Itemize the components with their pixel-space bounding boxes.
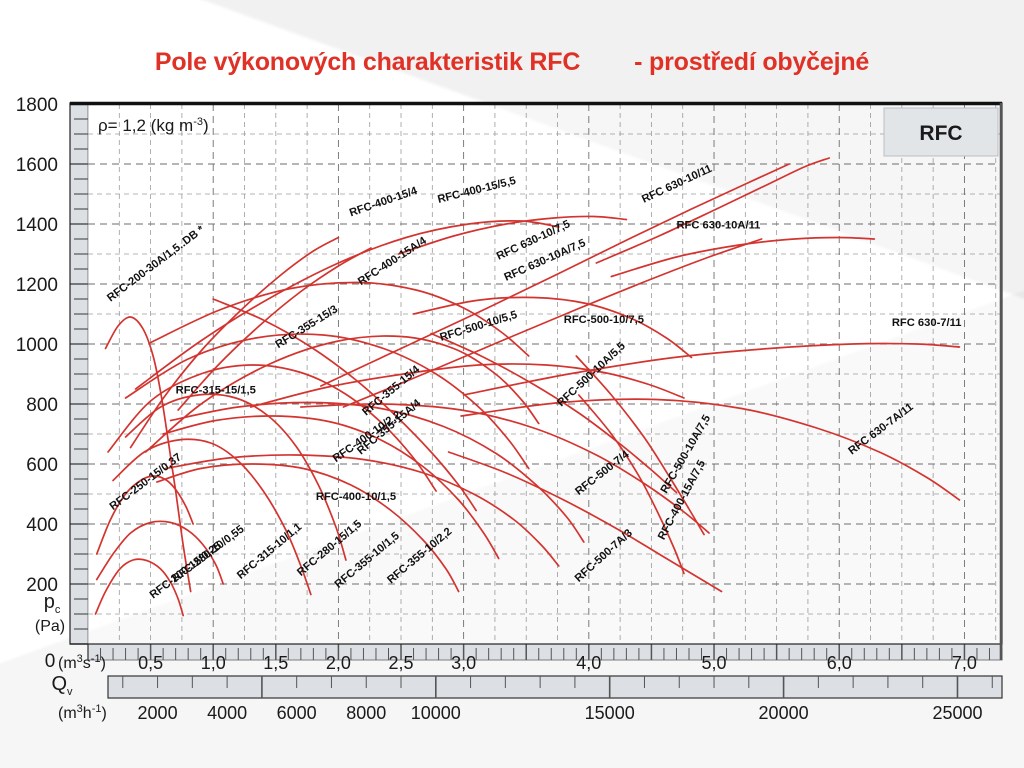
curve-label: RFC 630-10A/11 xyxy=(676,220,760,232)
qv-axis-name: Qv xyxy=(51,673,73,698)
curve-label: RFC 630-7/11 xyxy=(892,317,962,329)
curve-label: RFC-315-15/1,5 xyxy=(176,385,256,397)
y-axis-tick-label: 600 xyxy=(26,455,58,476)
y-axis-tick-label: 1000 xyxy=(16,335,58,356)
qv-axis-band xyxy=(108,676,1002,698)
x-axis-1-unit: (m3s-1) xyxy=(58,653,106,672)
y-axis-zero: 0 xyxy=(45,651,56,672)
y-axis-tick-label: 400 xyxy=(26,515,58,536)
x-axis-tick-label: 4,0 xyxy=(576,653,601,673)
x-axis-tick-label: 6,0 xyxy=(827,653,852,673)
x-axis-tick-label: 7,0 xyxy=(952,653,977,673)
qv-axis-tick-label: 25000 xyxy=(932,703,982,723)
x-axis-tick-label: 1,0 xyxy=(201,653,226,673)
y-axis-labels: 18001600140012001000800600400200 xyxy=(16,95,58,596)
y-axis-tick-label: 1200 xyxy=(16,275,58,296)
y-axis-name: pc xyxy=(44,591,61,616)
x-axis-tick-label: 0,5 xyxy=(138,653,163,673)
x-axis-tick-label: 1,5 xyxy=(263,653,288,673)
fan-performance-chart: RFC-200-15/0,25RFC-280-10/0,55RFC-250-15… xyxy=(0,0,1024,768)
density-annotation: ρ= 1,2 (kg m-3) xyxy=(98,116,209,135)
curve-label: RFC-400-10/1,5 xyxy=(316,491,396,503)
qv-axis-tick-label: 2000 xyxy=(138,703,178,723)
y-axis-tick-label: 1400 xyxy=(16,215,58,236)
curve-label: RFC-500-10/7,5 xyxy=(564,314,644,326)
x-axis-tick-label: 2,0 xyxy=(326,653,351,673)
qv-axis-tick-label: 4000 xyxy=(207,703,247,723)
x-axis-tick-label: 2,5 xyxy=(388,653,413,673)
qv-axis-unit: (m3h-1) xyxy=(58,703,107,722)
y-axis-tick-label: 800 xyxy=(26,395,58,416)
x-axis-tick-label: 5,0 xyxy=(702,653,727,673)
qv-axis-tick-label: 15000 xyxy=(585,703,635,723)
rfc-legend-label: RFC xyxy=(919,122,962,145)
y-axis-unit: (Pa) xyxy=(35,618,65,635)
qv-axis-labels: 200040006000800010000150002000025000 xyxy=(138,703,983,723)
y-axis-tick-label: 1600 xyxy=(16,155,58,176)
qv-axis-tick-label: 20000 xyxy=(759,703,809,723)
qv-axis-tick-label: 8000 xyxy=(346,703,386,723)
y-axis-tick-label: 1800 xyxy=(16,95,58,116)
qv-axis-tick-label: 10000 xyxy=(411,703,461,723)
x-axis-tick-label: 3,0 xyxy=(451,653,476,673)
qv-axis-tick-label: 6000 xyxy=(277,703,317,723)
chart-svg: RFC-200-15/0,25RFC-280-10/0,55RFC-250-15… xyxy=(0,0,1024,768)
